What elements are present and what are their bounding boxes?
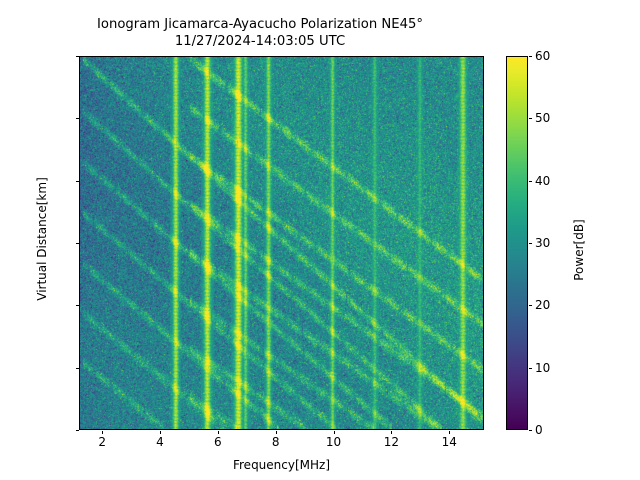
- colorbar-tick-mark: [529, 118, 533, 119]
- x-tick-mark: [391, 431, 392, 435]
- x-tick-label: 10: [309, 435, 359, 449]
- y-tick-mark: [76, 181, 80, 182]
- colorbar-tick-label: 30: [535, 236, 575, 250]
- colorbar-tick-label: 50: [535, 111, 575, 125]
- colorbar-tick-label: 60: [535, 49, 575, 63]
- x-tick-mark: [218, 431, 219, 435]
- x-tick-label: 4: [135, 435, 185, 449]
- ionogram-figure: Ionogram Jicamarca-Ayacucho Polarization…: [0, 0, 640, 480]
- colorbar-tick-mark: [529, 368, 533, 369]
- x-tick-mark: [102, 431, 103, 435]
- x-tick-mark: [449, 431, 450, 435]
- y-tick-mark: [76, 368, 80, 369]
- y-tick-mark: [76, 243, 80, 244]
- y-tick-mark: [76, 430, 80, 431]
- y-tick-mark: [76, 305, 80, 306]
- x-tick-label: 12: [366, 435, 416, 449]
- colorbar-tick-mark: [529, 181, 533, 182]
- colorbar-tick-mark: [529, 243, 533, 244]
- colorbar: [506, 56, 528, 430]
- page-title: Ionogram Jicamarca-Ayacucho Polarization…: [0, 17, 520, 50]
- colorbar-tick-mark: [529, 305, 533, 306]
- colorbar-tick-mark: [529, 430, 533, 431]
- colorbar-tick-label: 10: [535, 361, 575, 375]
- colorbar-gradient: [507, 57, 527, 429]
- x-tick-label: 2: [77, 435, 127, 449]
- colorbar-tick-label: 40: [535, 174, 575, 188]
- x-tick-label: 8: [251, 435, 301, 449]
- colorbar-tick-label: 20: [535, 298, 575, 312]
- x-tick-mark: [334, 431, 335, 435]
- colorbar-tick-label: 0: [535, 423, 575, 437]
- colorbar-tick-mark: [529, 56, 533, 57]
- x-tick-mark: [276, 431, 277, 435]
- x-tick-mark: [160, 431, 161, 435]
- heatmap-plot-area: [79, 56, 484, 430]
- colorbar-label: Power[dB]: [572, 63, 586, 437]
- ionogram-heatmap: [80, 57, 483, 429]
- x-tick-label: 6: [193, 435, 243, 449]
- x-tick-label: 14: [424, 435, 474, 449]
- y-axis-label: Virtual Distance[km]: [35, 52, 49, 426]
- y-tick-mark: [76, 118, 80, 119]
- y-tick-mark: [76, 56, 80, 57]
- x-axis-label: Frequency[MHz]: [79, 458, 484, 472]
